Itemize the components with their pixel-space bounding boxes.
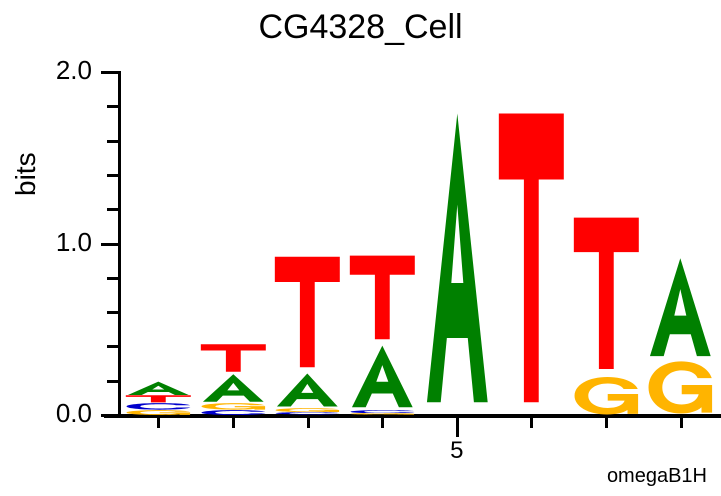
logo-stack-position-3 bbox=[272, 252, 343, 415]
logo-stacks bbox=[0, 0, 721, 496]
logo-letter-t-pos4 bbox=[347, 252, 418, 343]
logo-letter-t-pos7 bbox=[571, 211, 642, 376]
logo-stack-position-1 bbox=[123, 381, 194, 415]
logo-stack-position-2 bbox=[198, 343, 269, 415]
logo-letter-a-pos2 bbox=[198, 373, 269, 403]
logo-letter-c-pos2 bbox=[198, 410, 269, 415]
logo-letter-g-pos4 bbox=[347, 413, 418, 415]
logo-stack-position-4 bbox=[347, 252, 418, 415]
logo-stack-position-7 bbox=[571, 211, 642, 415]
logo-stack-position-5 bbox=[422, 101, 493, 415]
logo-letter-g-pos2 bbox=[198, 403, 269, 410]
logo-letter-g-pos8 bbox=[645, 360, 716, 415]
logo-letter-a-pos1 bbox=[123, 381, 194, 396]
logo-letter-t-pos3 bbox=[272, 252, 343, 372]
logo-letter-a-pos8 bbox=[645, 254, 716, 360]
logo-letter-c-pos3 bbox=[272, 412, 343, 415]
sequence-logo-figure: CG4328_Cell 0.01.02.0 5 bits omegaB1H bbox=[0, 0, 721, 496]
logo-letter-t-pos1 bbox=[123, 395, 194, 403]
logo-letter-g-pos1 bbox=[123, 410, 194, 415]
logo-letter-a-pos5 bbox=[422, 101, 493, 415]
logo-letter-t-pos6 bbox=[496, 101, 567, 415]
logo-letter-t-pos2 bbox=[198, 343, 269, 373]
logo-letter-a-pos4 bbox=[347, 343, 418, 410]
logo-stack-position-6 bbox=[496, 101, 567, 415]
footer-annotation: omegaB1H bbox=[607, 465, 707, 488]
logo-letter-g-pos7 bbox=[571, 376, 642, 415]
logo-letter-a-pos3 bbox=[272, 372, 343, 408]
logo-stack-position-8 bbox=[645, 254, 716, 415]
logo-letter-c-pos1 bbox=[123, 403, 194, 410]
